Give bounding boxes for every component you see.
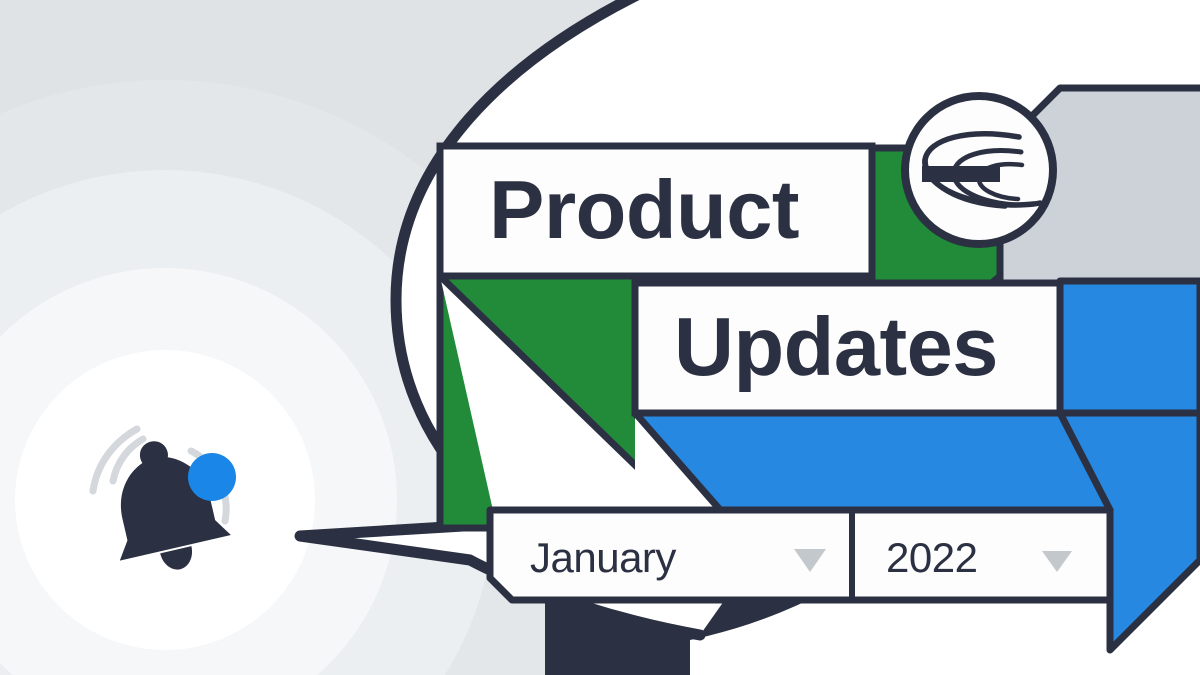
page-title-line2: Updates	[674, 303, 998, 391]
notification-bell-button[interactable]	[85, 425, 250, 585]
month-select[interactable]	[490, 510, 852, 600]
page-title-line1: Product	[489, 166, 799, 254]
brand-logo-button[interactable]	[905, 96, 1053, 244]
year-select[interactable]	[852, 510, 1110, 600]
product-updates-banner: Product Updates January 2022	[0, 0, 1200, 675]
